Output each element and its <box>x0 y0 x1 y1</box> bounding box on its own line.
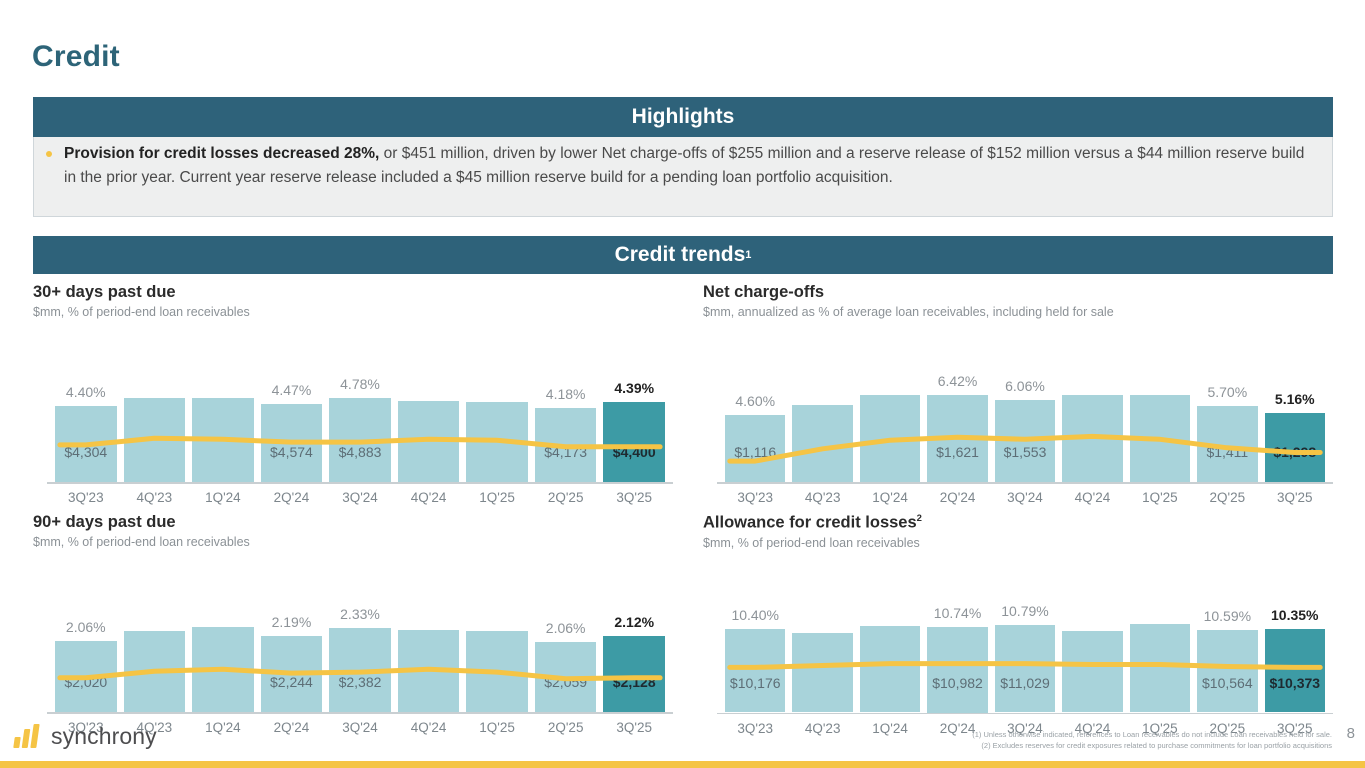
bar-value-label: $2,382 <box>317 674 403 690</box>
bar <box>860 395 920 482</box>
bar-pct-label-highlighted: 10.35% <box>1251 607 1339 623</box>
bar <box>792 405 852 482</box>
highlights-band-label: Highlights <box>632 105 735 129</box>
footnotes: (1) Unless otherwise indicated, referenc… <box>972 729 1332 751</box>
bar <box>1062 631 1122 713</box>
chart-subtitle: $mm, % of period-end loan receivables <box>33 535 673 549</box>
bar <box>466 631 528 712</box>
chart-title-superscript: 2 <box>917 513 922 524</box>
chart-axis-line <box>717 482 1333 484</box>
bar <box>1197 630 1257 713</box>
bar <box>1130 624 1190 712</box>
footer-accent-rule <box>0 761 1365 768</box>
chart-title: 90+ days past due <box>33 513 673 532</box>
bar <box>124 631 186 712</box>
bar <box>398 630 460 712</box>
chart-title: 30+ days past due <box>33 283 673 302</box>
bar-pct-label: 4.60% <box>711 393 799 409</box>
bar-value-label: $1,553 <box>983 444 1067 460</box>
bullet-icon <box>46 151 52 157</box>
chart-plot-area: 4.60%$1,1166.42%$1,6216.06%$1,5535.70%$1… <box>703 327 1333 514</box>
bar <box>725 629 785 713</box>
bar-pct-label: 10.79% <box>981 603 1069 619</box>
bar-value-label-highlighted: $4,400 <box>591 444 677 460</box>
bar-pct-label: 4.78% <box>315 376 405 392</box>
chart-axis-line <box>47 482 673 484</box>
highlights-body: Provision for credit losses decreased 28… <box>33 137 1333 217</box>
chart-plot-area: 2.06%$2,0202.19%$2,2442.33%$2,3822.06%$2… <box>33 557 673 744</box>
bar <box>329 628 391 712</box>
page-number: 8 <box>1347 725 1355 742</box>
chart-plot-area: 10.40%$10,17610.74%$10,98210.79%$11,0291… <box>703 558 1333 745</box>
bar-pct-label-highlighted: 2.12% <box>589 614 679 630</box>
bar <box>192 398 254 482</box>
bar-value-label: $4,883 <box>317 444 403 460</box>
credit-trends-band: Credit trends1 <box>33 236 1333 274</box>
bar-pct-label: 2.33% <box>315 606 405 622</box>
bar-pct-label: 2.06% <box>41 619 131 635</box>
chart-panel-net-charge-offs: Net charge-offs$mm, annualized as % of a… <box>703 283 1333 514</box>
bar <box>995 400 1055 482</box>
chart-axis-line <box>717 713 1333 715</box>
x-axis-label: 3Q'25 <box>1255 490 1335 505</box>
x-axis-label: 3Q'25 <box>593 720 675 735</box>
chart-panel-30-days-past-due: 30+ days past due$mm, % of period-end lo… <box>33 283 673 514</box>
bar <box>192 627 254 713</box>
bar <box>927 395 987 482</box>
footnote-1: (1) Unless otherwise indicated, referenc… <box>972 729 1332 740</box>
bar <box>466 402 528 482</box>
bar-pct-label: 4.40% <box>41 384 131 400</box>
bar <box>792 633 852 713</box>
bar-pct-label: 6.06% <box>981 378 1069 394</box>
bar-value-label: $2,020 <box>43 674 129 690</box>
bar <box>1130 395 1190 482</box>
synchrony-logo-text: synchrony <box>51 724 157 748</box>
bar-highlighted <box>1265 629 1325 713</box>
highlights-band: Highlights <box>33 97 1333 137</box>
chart-subtitle: $mm, % of period-end loan receivables <box>33 305 673 319</box>
synchrony-logo-icon <box>14 724 44 748</box>
chart-plot-area: 4.40%$4,3044.47%$4,5744.78%$4,8834.18%$4… <box>33 327 673 514</box>
bar-value-label: $1,116 <box>713 444 797 460</box>
bar-value-label-highlighted: $1,298 <box>1253 444 1337 460</box>
page-title: Credit <box>32 40 120 74</box>
chart-subtitle: $mm, annualized as % of average loan rec… <box>703 305 1333 319</box>
bar-pct-label: 10.40% <box>711 607 799 623</box>
bar <box>927 627 987 713</box>
credit-trends-band-label: Credit trends <box>615 243 746 267</box>
bar-pct-label-highlighted: 5.16% <box>1251 391 1339 407</box>
bar-value-label: $10,176 <box>713 675 797 691</box>
bar <box>860 626 920 712</box>
credit-trends-superscript: 1 <box>745 249 751 261</box>
bar <box>124 398 186 482</box>
bar <box>398 401 460 482</box>
chart-panel-90-days-past-due: 90+ days past due$mm, % of period-end lo… <box>33 513 673 744</box>
bar <box>1062 395 1122 482</box>
chart-title: Allowance for credit losses2 <box>703 513 1333 533</box>
bar-highlighted <box>603 402 665 482</box>
x-axis-label: 3Q'25 <box>593 490 675 505</box>
bar-value-label: $4,304 <box>43 444 129 460</box>
highlights-bullet-text: Provision for credit losses decreased 28… <box>64 137 1332 216</box>
bar-pct-label-highlighted: 4.39% <box>589 380 679 396</box>
chart-axis-line <box>47 712 673 714</box>
footnote-2: (2) Excludes reserves for credit exposur… <box>972 740 1332 751</box>
bar <box>995 625 1055 712</box>
synchrony-logo: synchrony <box>14 724 157 748</box>
highlights-bullet-bold: Provision for credit losses decreased 28… <box>64 145 379 162</box>
chart-subtitle: $mm, % of period-end loan receivables <box>703 536 1333 550</box>
bar-value-label-highlighted: $10,373 <box>1253 675 1337 691</box>
chart-panel-allowance-credit-losses: Allowance for credit losses2$mm, % of pe… <box>703 513 1333 745</box>
bar-value-label-highlighted: $2,128 <box>591 674 677 690</box>
chart-title: Net charge-offs <box>703 283 1333 302</box>
bar <box>329 398 391 482</box>
bar-value-label: $11,029 <box>983 675 1067 691</box>
